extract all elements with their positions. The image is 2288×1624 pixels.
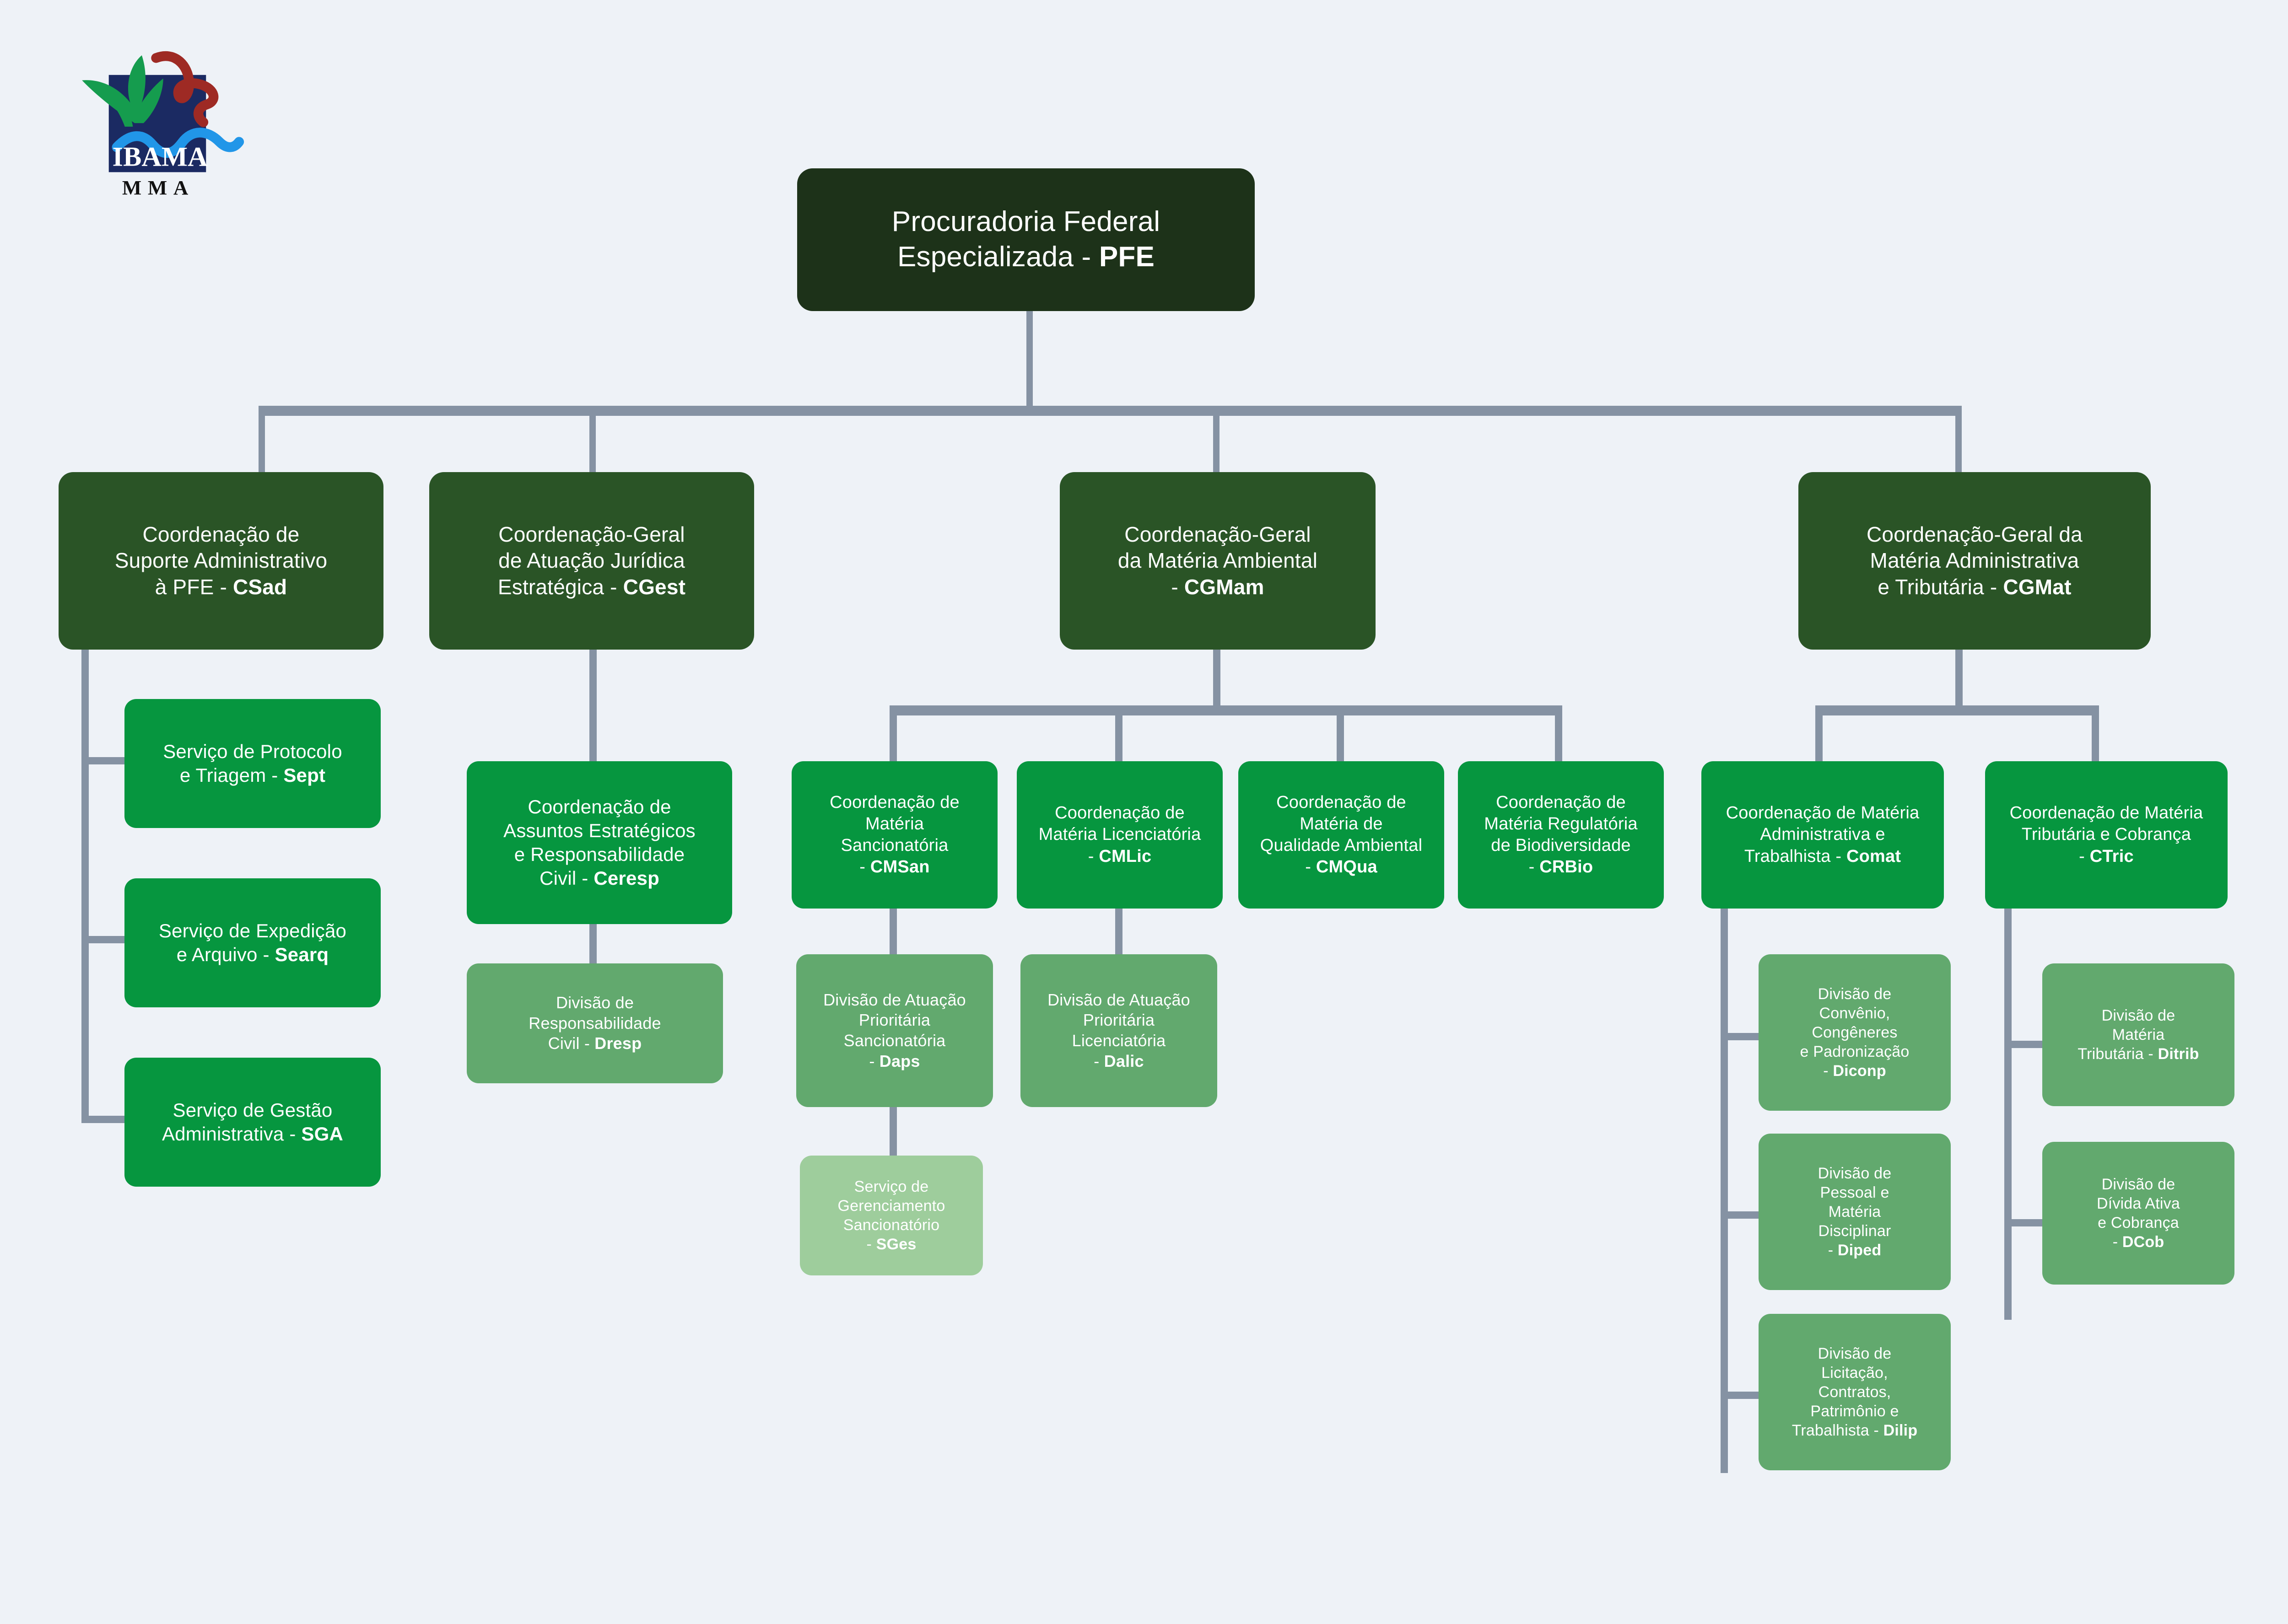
node-searq-acronym: Searq	[275, 944, 329, 965]
node-ditrib-line2: Matéria	[2112, 1026, 2165, 1043]
ibama-mma-logo: IBAMA MMA	[68, 36, 246, 214]
node-sept[interactable]: Serviço de Protocolo e Triagem - Sept	[124, 699, 381, 828]
connector-drop-comat	[1815, 705, 1823, 765]
node-diconp-acronym: Diconp	[1833, 1062, 1886, 1080]
node-csad-line3: à PFE -	[155, 575, 233, 599]
node-cgmat-line3: e Tributária -	[1878, 575, 2003, 599]
node-dcob-line3: e Cobrança	[2098, 1214, 2179, 1231]
node-diconp-line1: Divisão de	[1818, 985, 1892, 1003]
node-dresp-line1: Divisão de	[556, 993, 634, 1012]
connector-cgmat-stem	[1955, 650, 1963, 709]
node-daps-line1: Divisão de Atuação	[823, 990, 966, 1009]
node-ditrib-line1: Divisão de	[2102, 1007, 2175, 1024]
node-daps-line2: Prioritária	[859, 1011, 930, 1029]
node-ditrib-acronym: Ditrib	[2158, 1045, 2199, 1063]
node-comat-line1: Coordenação de Matéria	[1726, 803, 1920, 823]
node-dcob[interactable]: Divisão de Dívida Ativa e Cobrança - DCo…	[2042, 1142, 2234, 1285]
node-crbio-line3: de Biodiversidade	[1491, 836, 1631, 855]
organization-chart-canvas: IBAMA MMA Procuradoria Federal	[0, 0, 2288, 1624]
node-ceresp-acronym: Ceresp	[594, 867, 659, 889]
node-sges-line1: Serviço de	[854, 1178, 929, 1195]
node-cgest-line3: Estratégica -	[498, 575, 623, 599]
node-dilip-acronym: Dilip	[1883, 1422, 1918, 1439]
node-cmqua-acronym: CMQua	[1316, 857, 1377, 877]
node-sga-line2: Administrativa -	[162, 1123, 301, 1145]
node-dalic-line2: Prioritária	[1083, 1011, 1155, 1029]
node-cgmam-line2: da Matéria Ambiental	[1118, 549, 1317, 572]
node-dalic-line1: Divisão de Atuação	[1047, 990, 1190, 1009]
node-dilip-line1: Divisão de	[1818, 1345, 1892, 1362]
node-ceresp-line3: e Responsabilidade	[514, 844, 685, 865]
node-dcob-line4: -	[2113, 1233, 2122, 1251]
node-dalic-line4: -	[1094, 1052, 1104, 1070]
node-cmqua-line3: Qualidade Ambiental	[1260, 836, 1422, 855]
node-diped[interactable]: Divisão de Pessoal e Matéria Disciplinar…	[1759, 1134, 1951, 1290]
node-diconp-line3: Congêneres	[1812, 1024, 1897, 1041]
node-cgest-line1: Coordenação-Geral	[498, 522, 685, 546]
node-sept-line2: e Triagem -	[180, 764, 283, 786]
connector-csad-spine	[81, 650, 89, 1123]
connector-ctric-spine	[2004, 908, 2012, 1320]
node-dresp[interactable]: Divisão de Responsabilidade Civil - Dres…	[467, 963, 723, 1083]
node-cgmam-line1: Coordenação-Geral	[1124, 522, 1311, 546]
connector-drop-cgmam	[1213, 406, 1220, 472]
node-ceresp[interactable]: Coordenação de Assuntos Estratégicos e R…	[467, 761, 732, 924]
node-dresp-line2: Responsabilidade	[529, 1014, 661, 1032]
node-ceresp-line2: Assuntos Estratégicos	[503, 820, 696, 841]
node-dcob-acronym: DCob	[2122, 1233, 2164, 1251]
node-cmsan-line2: Matéria	[865, 814, 924, 834]
node-cgmat[interactable]: Coordenação-Geral da Matéria Administrat…	[1798, 472, 2151, 650]
node-csad-line2: Suporte Administrativo	[115, 549, 328, 572]
node-ceresp-line1: Coordenação de	[528, 796, 671, 817]
node-dresp-line3: Civil -	[548, 1034, 595, 1053]
node-dilip[interactable]: Divisão de Licitação, Contratos, Patrimô…	[1759, 1314, 1951, 1470]
connector-drop-csad	[259, 406, 265, 472]
node-daps-acronym: Daps	[880, 1052, 920, 1070]
node-pfe[interactable]: Procuradoria Federal Especializada - PFE	[797, 168, 1255, 311]
node-ditrib-line3: Tributária -	[2078, 1045, 2158, 1063]
node-dalic-acronym: Dalic	[1104, 1052, 1144, 1070]
node-cgest[interactable]: Coordenação-Geral de Atuação Jurídica Es…	[429, 472, 754, 650]
node-ctric-line1: Coordenação de Matéria	[2010, 803, 2203, 823]
node-cmqua-line4: -	[1305, 857, 1316, 877]
node-ctric[interactable]: Coordenação de Matéria Tributária e Cobr…	[1985, 761, 2228, 909]
node-ditrib[interactable]: Divisão de Matéria Tributária - Ditrib	[2042, 963, 2234, 1106]
node-searq[interactable]: Serviço de Expedição e Arquivo - Searq	[124, 878, 381, 1007]
connector-cgmam-bus	[890, 705, 1562, 715]
node-daps[interactable]: Divisão de Atuação Prioritária Sancionat…	[796, 954, 993, 1107]
node-searq-line1: Serviço de Expedição	[159, 920, 346, 941]
node-sga-line1: Serviço de Gestão	[173, 1099, 333, 1121]
node-diped-acronym: Diped	[1838, 1242, 1881, 1259]
node-dilip-line3: Contratos,	[1819, 1383, 1891, 1401]
node-dilip-line2: Licitação,	[1821, 1364, 1888, 1382]
node-crbio-acronym: CRBio	[1539, 857, 1593, 877]
connector-drop-crbio	[1555, 705, 1562, 765]
node-cmqua-line1: Coordenação de	[1276, 793, 1406, 812]
connector-cgmam-stem	[1213, 650, 1220, 709]
node-cgmat-line1: Coordenação-Geral da	[1867, 522, 2083, 546]
node-dilip-line5: Trabalhista -	[1792, 1422, 1883, 1439]
node-cmqua[interactable]: Coordenação de Matéria de Qualidade Ambi…	[1238, 761, 1444, 909]
connector-cmlic-to-dalic	[1115, 909, 1122, 954]
node-ctric-acronym: CTric	[2090, 847, 2134, 866]
node-cmsan-line3: Sancionatória	[841, 836, 949, 855]
connector-comat-spine	[1721, 908, 1728, 1473]
node-dcob-line2: Dívida Ativa	[2097, 1195, 2180, 1212]
node-diconp-line4: e Padronização	[1800, 1043, 1909, 1060]
node-comat-line2: Administrativa e	[1760, 825, 1885, 844]
node-cmlic-line3: -	[1088, 847, 1099, 866]
node-diconp[interactable]: Divisão de Convênio, Congêneres e Padron…	[1759, 954, 1951, 1111]
node-sges-line3: Sancionatório	[843, 1216, 940, 1234]
node-dilip-line4: Patrimônio e	[1810, 1403, 1899, 1420]
connector-drop-cmsan	[890, 705, 897, 765]
node-ceresp-line4: Civil -	[540, 867, 594, 889]
node-dcob-line1: Divisão de	[2102, 1176, 2175, 1193]
connector-drop-ctric	[2092, 705, 2099, 765]
node-sept-line1: Serviço de Protocolo	[163, 741, 342, 762]
node-sga-acronym: SGA	[301, 1123, 343, 1145]
node-comat[interactable]: Coordenação de Matéria Administrativa e …	[1701, 761, 1944, 909]
node-sges-line2: Gerenciamento	[837, 1197, 945, 1215]
node-crbio[interactable]: Coordenação de Matéria Regulatória de Bi…	[1458, 761, 1664, 909]
node-cmsan[interactable]: Coordenação de Matéria Sancionatória - C…	[792, 761, 998, 909]
node-searq-line2: e Arquivo -	[177, 944, 275, 965]
connector-cmsan-to-daps	[890, 909, 897, 954]
node-cmsan-line1: Coordenação de	[830, 793, 960, 812]
node-dresp-acronym: Dresp	[594, 1034, 642, 1053]
node-cgmam-acronym: CGMam	[1184, 575, 1264, 599]
connector-cgmat-bus	[1815, 705, 2099, 715]
node-diped-line4: Disciplinar	[1818, 1222, 1891, 1240]
connector-drop-cmqua	[1337, 705, 1344, 765]
node-cmlic-line2: Matéria Licenciatória	[1039, 825, 1201, 844]
node-cgmat-line2: Matéria Administrativa	[1870, 549, 2079, 572]
node-cmlic-acronym: CMLic	[1099, 847, 1151, 866]
node-diped-line3: Matéria	[1829, 1203, 1881, 1221]
node-crbio-line1: Coordenação de	[1496, 793, 1626, 812]
node-cgmat-acronym: CGMat	[2003, 575, 2071, 599]
node-ctric-line3: -	[2079, 847, 2090, 866]
node-dalic[interactable]: Divisão de Atuação Prioritária Licenciat…	[1020, 954, 1217, 1107]
node-diconp-line2: Convênio,	[1819, 1005, 1890, 1022]
node-cmlic[interactable]: Coordenação de Matéria Licenciatória - C…	[1017, 761, 1223, 909]
node-csad-acronym: CSad	[233, 575, 287, 599]
node-pfe-line1: Procuradoria Federal	[892, 206, 1160, 237]
logo-mma-text: MMA	[122, 176, 194, 199]
node-cgest-line2: de Atuação Jurídica	[498, 549, 685, 572]
node-cmlic-line1: Coordenação de	[1055, 803, 1185, 823]
logo-ibama-text: IBAMA	[113, 142, 208, 172]
node-cgest-acronym: CGest	[623, 575, 685, 599]
node-sga[interactable]: Serviço de Gestão Administrativa - SGA	[124, 1058, 381, 1187]
node-diconp-line5: -	[1823, 1062, 1833, 1080]
node-dalic-line3: Licenciatória	[1072, 1031, 1166, 1050]
node-cgmam[interactable]: Coordenação-Geral da Matéria Ambiental -…	[1060, 472, 1376, 650]
connector-ceresp-to-dresp	[589, 924, 597, 970]
node-daps-line3: Sancionatória	[844, 1031, 946, 1050]
node-pfe-acronym: PFE	[1099, 241, 1155, 273]
node-cmqua-line2: Matéria de	[1300, 814, 1383, 834]
node-daps-line4: -	[869, 1052, 879, 1070]
node-ctric-line2: Tributária e Cobrança	[2022, 825, 2191, 844]
node-crbio-line4: -	[1529, 857, 1540, 877]
node-sges-acronym: SGes	[876, 1236, 917, 1253]
node-diped-line5: -	[1828, 1242, 1838, 1259]
node-crbio-line2: Matéria Regulatória	[1484, 814, 1637, 834]
node-diped-line2: Pessoal e	[1820, 1184, 1889, 1201]
node-csad-line1: Coordenação de	[143, 522, 300, 546]
connector-cgest-to-ceresp	[589, 650, 597, 764]
node-sges-line4: -	[867, 1236, 876, 1253]
connector-pfe-bus	[259, 406, 1962, 416]
connector-drop-cmlic	[1115, 705, 1122, 765]
connector-pfe-stem	[1026, 311, 1033, 410]
node-cgmam-line3: -	[1171, 575, 1184, 599]
node-comat-line3: Trabalhista -	[1744, 847, 1846, 866]
node-sges[interactable]: Serviço de Gerenciamento Sancionatório -…	[800, 1156, 983, 1275]
connector-drop-cgest	[589, 406, 596, 472]
connector-drop-cgmat	[1955, 406, 1962, 472]
node-pfe-line2: Especializada -	[897, 241, 1099, 273]
node-comat-acronym: Comat	[1846, 847, 1901, 866]
node-sept-acronym: Sept	[283, 764, 325, 786]
node-diped-line1: Divisão de	[1818, 1165, 1892, 1182]
node-csad[interactable]: Coordenação de Suporte Administrativo à …	[59, 472, 383, 650]
node-cmsan-line4: -	[859, 857, 870, 877]
node-cmsan-acronym: CMSan	[870, 857, 930, 877]
